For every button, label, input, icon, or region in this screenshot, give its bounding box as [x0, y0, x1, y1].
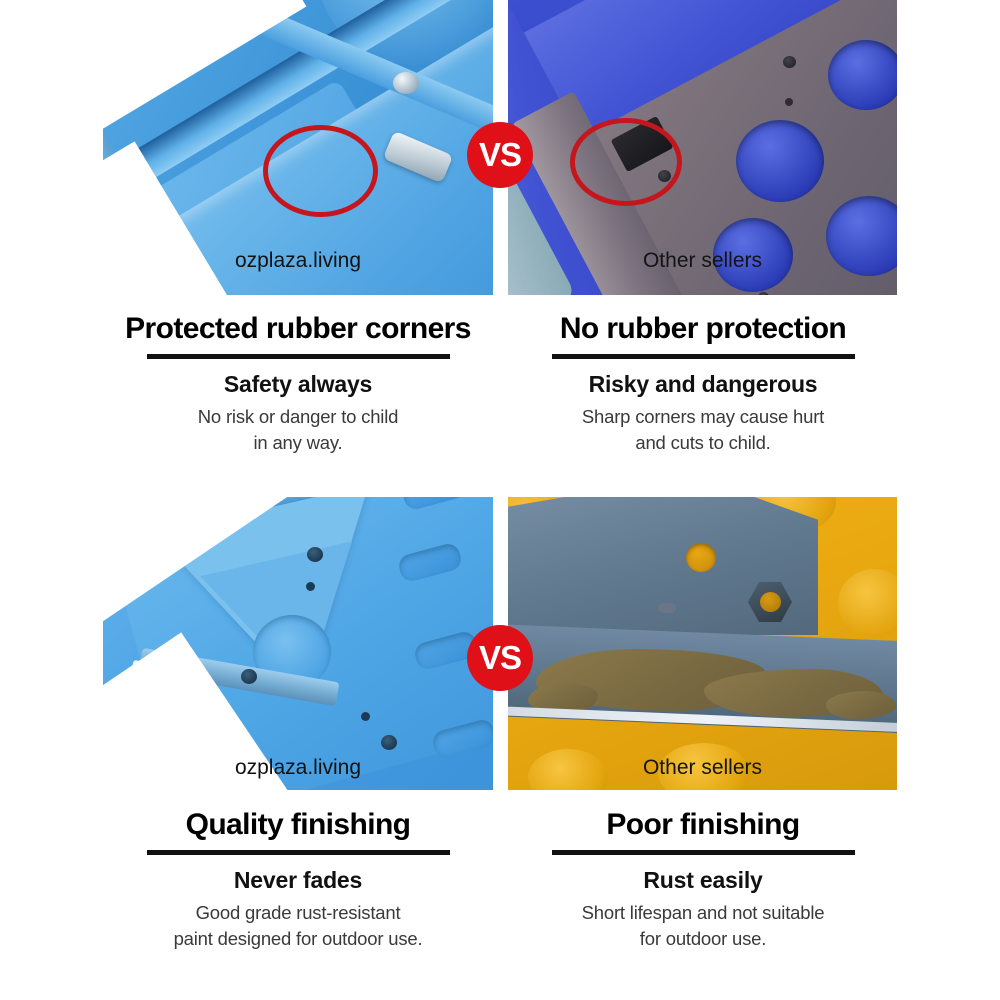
body-line1-bottom-right: Short lifespan and not suitable — [508, 901, 898, 925]
caption-bottom-left: Quality finishing Never fades Good grade… — [103, 809, 493, 951]
divider-rule-bottom-right — [552, 850, 855, 855]
subhead-bottom-right: Rust easily — [508, 867, 898, 894]
blue-table-bracket-image — [103, 497, 493, 790]
watermark-brand-bottom-left: ozplaza.living — [103, 756, 493, 780]
watermark-other-sellers-top-right: Other sellers — [508, 249, 897, 273]
vs-badge-bottom: VS — [467, 625, 533, 691]
divider-rule-top-right — [552, 354, 855, 359]
caption-top-right: No rubber protection Risky and dangerous… — [508, 313, 898, 455]
divider-rule-top-left — [147, 354, 450, 359]
photo-bad-rusty-finish: Other sellers — [508, 497, 897, 790]
highlight-ellipse-rubber-cap — [263, 125, 378, 217]
body-line2-top-left: in any way. — [103, 431, 493, 455]
subhead-bottom-left: Never fades — [103, 867, 493, 894]
subhead-top-left: Safety always — [103, 371, 493, 398]
headline-bottom-right: Poor finishing — [508, 809, 898, 841]
body-line2-bottom-right: for outdoor use. — [508, 927, 898, 951]
vs-badge-top: VS — [467, 122, 533, 188]
body-line2-bottom-left: paint designed for outdoor use. — [103, 927, 493, 951]
body-line2-top-right: and cuts to child. — [508, 431, 898, 455]
watermark-brand-top-left: ozplaza.living — [103, 249, 493, 273]
body-line1-bottom-left: Good grade rust-resistant — [103, 901, 493, 925]
comparison-row-corner-protection: ozplaza.living — [0, 0, 1000, 497]
watermark-other-sellers-bottom-right: Other sellers — [508, 756, 897, 780]
body-line1-top-right: Sharp corners may cause hurt — [508, 405, 898, 429]
photo-band-bottom: ozplaza.living — [0, 497, 1000, 790]
photo-good-rubber-corner: ozplaza.living — [103, 0, 493, 295]
photo-good-quality-finish: ozplaza.living — [103, 497, 493, 790]
body-line1-top-left: No risk or danger to child — [103, 405, 493, 429]
headline-top-left: Protected rubber corners — [103, 313, 493, 345]
comparison-row-finishing-quality: ozplaza.living — [0, 497, 1000, 1000]
comparison-infographic: ozplaza.living — [0, 0, 1000, 1000]
yellow-table-rusty-bracket-image — [508, 497, 897, 790]
headline-bottom-left: Quality finishing — [103, 809, 493, 841]
subhead-top-right: Risky and dangerous — [508, 371, 898, 398]
photo-bad-sharp-corner: Other sellers — [508, 0, 897, 295]
highlight-ellipse-sharp-corner — [570, 118, 682, 206]
caption-bottom-right: Poor finishing Rust easily Short lifespa… — [508, 809, 898, 951]
photo-band-top: ozplaza.living — [0, 0, 1000, 295]
headline-top-right: No rubber protection — [508, 313, 898, 345]
divider-rule-bottom-left — [147, 850, 450, 855]
caption-top-left: Protected rubber corners Safety always N… — [103, 313, 493, 455]
